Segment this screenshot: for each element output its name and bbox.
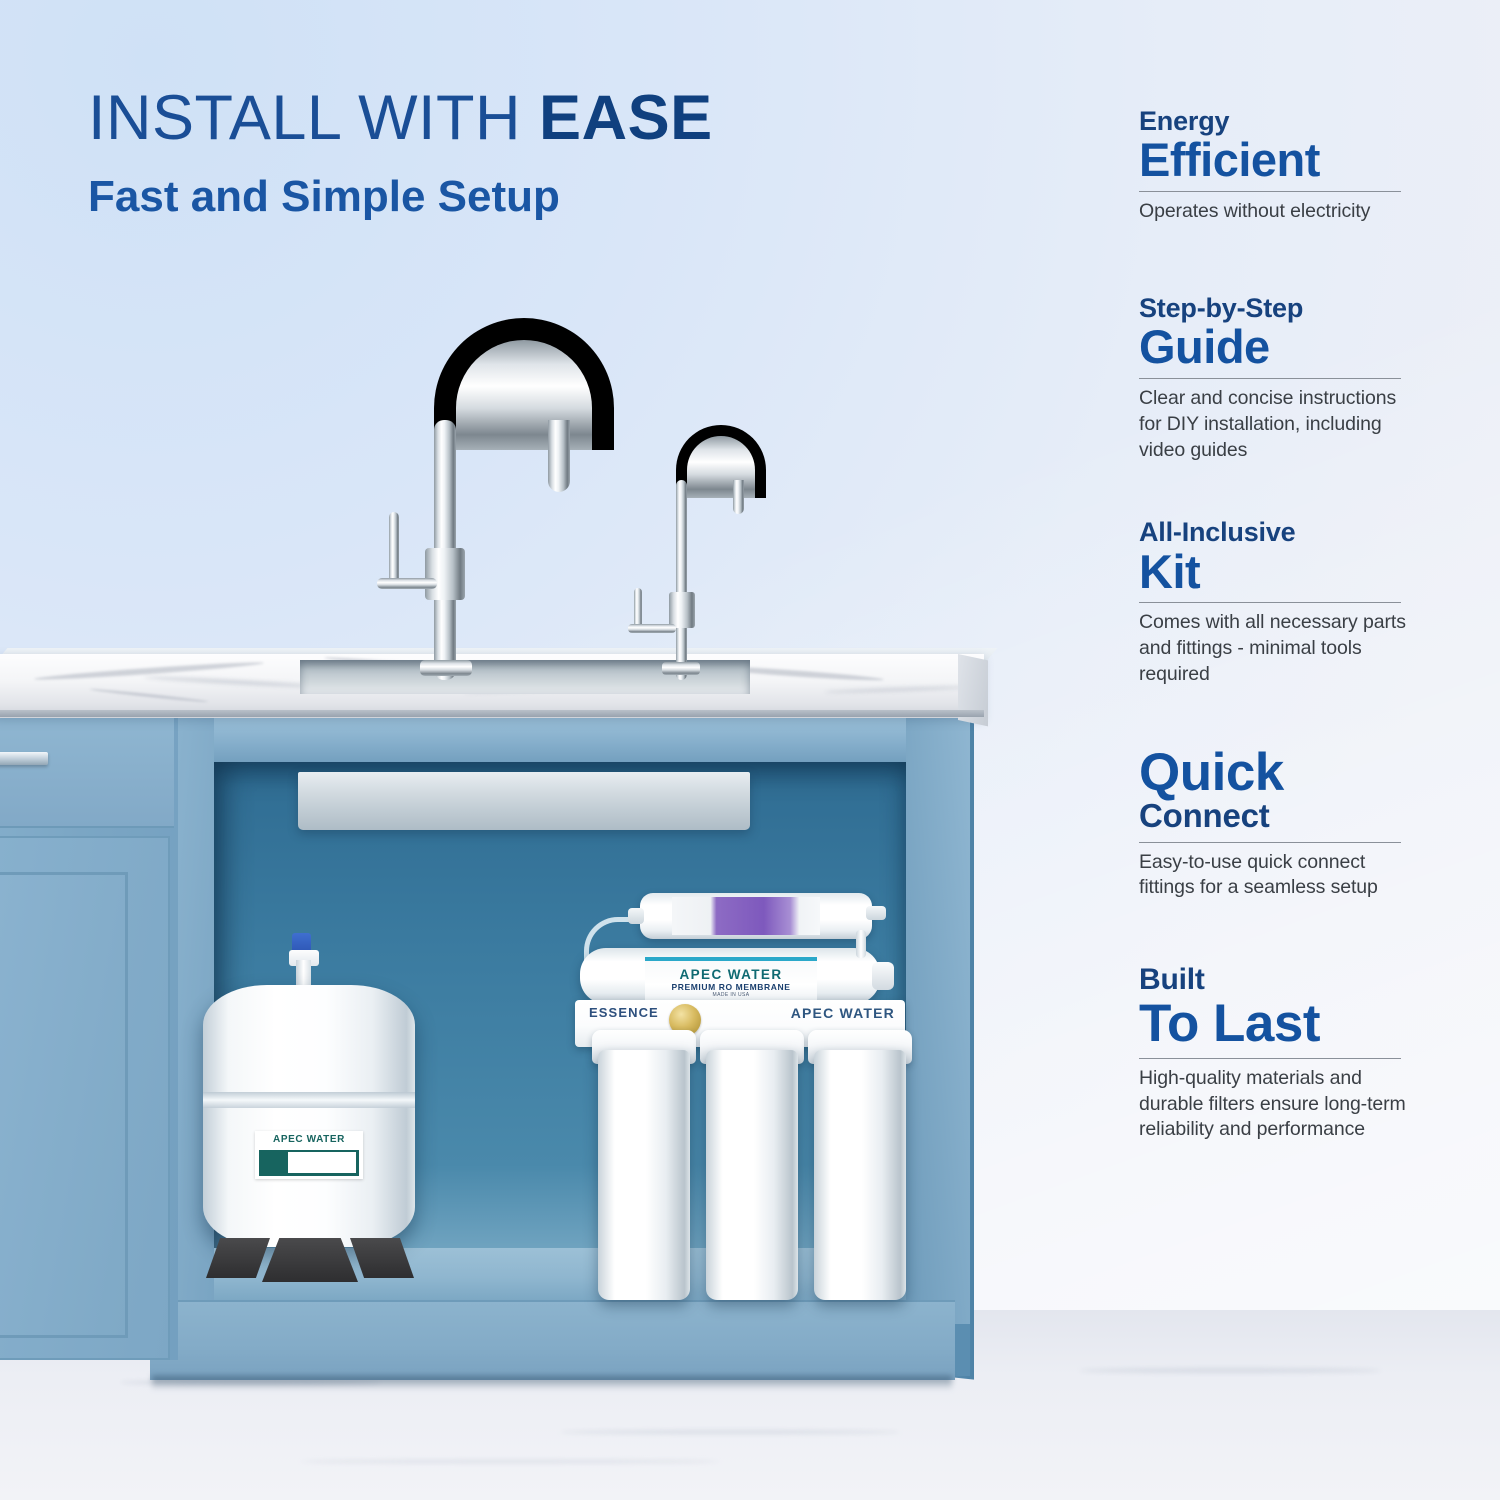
tank-brand-text: APEC WATER — [255, 1134, 363, 1145]
feature-divider — [1139, 842, 1401, 843]
ro-faucet-spout-tip — [733, 480, 744, 514]
feature-description: Comes with all necessary parts and fitti… — [1139, 610, 1409, 687]
cabinet-floor-shadow — [152, 1376, 952, 1390]
feature-item-built-to-last: Built To Last High-quality materials and… — [1139, 963, 1409, 1143]
inline-filter-port-left — [628, 908, 644, 924]
faucet-handle-lever[interactable] — [389, 512, 399, 584]
inline-filter-port-right — [866, 906, 886, 920]
membrane-brand-text: APEC WATER — [645, 967, 817, 982]
membrane-note-text: MADE IN USA — [645, 992, 817, 998]
feature-description: High-quality materials and durable filte… — [1139, 1066, 1409, 1143]
tank-spec-box — [288, 1152, 356, 1173]
feature-item-energy-efficient: Energy Efficient Operates without electr… — [1139, 106, 1409, 225]
filter-housing-3 — [598, 1050, 690, 1300]
feature-list: Energy Efficient Operates without electr… — [1139, 106, 1409, 1143]
hero-headline-bold: EASE — [539, 83, 713, 153]
feature-big-title: Kit — [1139, 548, 1409, 596]
feature-divider — [1139, 602, 1401, 603]
countertop-bottom-edge — [0, 710, 984, 717]
left-cabinet-door-panel — [0, 872, 128, 1338]
cabinet-right-stile — [906, 716, 970, 1324]
bracket-brand-apec: APEC WATER — [791, 1005, 895, 1021]
ro-faucet-escutcheon — [662, 662, 700, 675]
membrane-sub-text: PREMIUM RO MEMBRANE — [645, 982, 817, 992]
ro-faucet-column — [676, 480, 687, 680]
product-feature-image: APEC WATER PREMIUM RO MEMBRANE MADE IN U… — [0, 0, 1500, 1500]
feature-big-title: Quick — [1139, 746, 1409, 800]
bracket-brand-essence: ESSENCE — [589, 1005, 659, 1020]
feature-small-title: Built — [1139, 963, 1409, 997]
feature-big-title: Guide — [1139, 323, 1409, 371]
undermount-sink-basin — [298, 772, 750, 830]
feature-description: Clear and concise instructions for DIY i… — [1139, 386, 1409, 463]
cabinet-toe-kick — [150, 1300, 955, 1380]
cabinet-top-rail — [150, 716, 970, 762]
membrane-riser-fitting — [856, 930, 866, 958]
feature-item-all-inclusive-kit: All-Inclusive Kit Comes with all necessa… — [1139, 517, 1409, 687]
feature-small-title: Connect — [1139, 798, 1409, 835]
feature-small-title: Step-by-Step — [1139, 293, 1409, 323]
feature-divider — [1139, 1058, 1401, 1059]
feature-big-title: To Last — [1139, 997, 1409, 1051]
filter-housing-1 — [814, 1050, 906, 1300]
feature-description: Operates without electricity — [1139, 199, 1409, 225]
left-cabinet-drawer — [0, 718, 174, 828]
faucet-spout-tip — [548, 420, 570, 492]
faucet-handle-arm[interactable] — [377, 578, 437, 589]
faucet-escutcheon — [420, 660, 472, 676]
feature-item-quick-connect: Quick Connect Easy-to-use quick connect … — [1139, 746, 1409, 901]
tank-seam-band — [203, 1092, 415, 1108]
feature-small-title: Energy — [1139, 106, 1409, 136]
membrane-right-fitting — [872, 962, 894, 990]
hero-copy: INSTALL WITH EASE Fast and Simple Setup — [88, 86, 848, 222]
feature-divider — [1139, 191, 1401, 192]
hero-subheadline: Fast and Simple Setup — [88, 172, 848, 222]
faucet-collar — [425, 548, 465, 600]
feature-divider — [1139, 378, 1401, 379]
feature-description: Easy-to-use quick connect fittings for a… — [1139, 850, 1409, 901]
feature-small-title: All-Inclusive — [1139, 517, 1409, 547]
drawer-handle[interactable] — [0, 752, 48, 765]
feature-item-step-by-step-guide: Step-by-Step Guide Clear and concise ins… — [1139, 293, 1409, 463]
ro-faucet-collar — [669, 592, 695, 628]
inline-filter-label — [672, 897, 820, 935]
hero-headline-light: INSTALL WITH — [88, 83, 539, 153]
ro-faucet-handle-arm[interactable] — [628, 624, 676, 633]
hero-headline: INSTALL WITH EASE — [88, 86, 848, 150]
tank-body — [203, 985, 415, 1247]
filter-housing-2 — [706, 1050, 798, 1300]
ro-membrane-label: APEC WATER PREMIUM RO MEMBRANE MADE IN U… — [645, 957, 817, 1001]
feature-big-title: Efficient — [1139, 136, 1409, 184]
